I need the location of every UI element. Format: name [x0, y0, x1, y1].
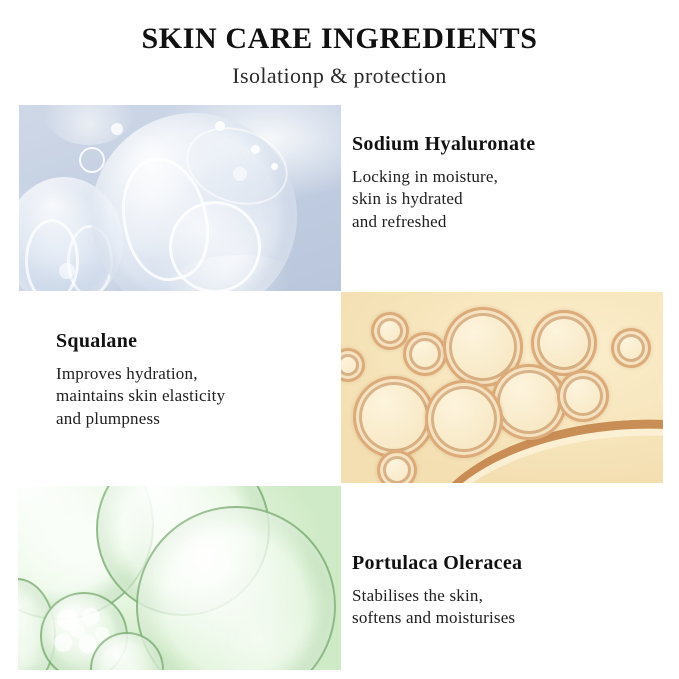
- page-subtitle: Isolationp & protection: [0, 56, 679, 89]
- ingredient-heading-sodium-hyaluronate: Sodium Hyaluronate: [352, 133, 672, 156]
- water-droplet-2: [111, 123, 123, 135]
- ingredient-body-squalane: Improves hydration, maintains skin elast…: [56, 353, 356, 430]
- ingredient-heading-squalane: Squalane: [56, 330, 356, 353]
- oil-bubble-2: [403, 332, 447, 376]
- water-droplet-3: [215, 121, 225, 131]
- oil-bubble-5: [611, 328, 651, 368]
- ingredient-text-squalane: Squalane Improves hydration, maintains s…: [56, 330, 356, 430]
- oil-bubble-11: [377, 450, 417, 483]
- ingredient-image-squalane: [341, 292, 663, 483]
- ingredient-body-portulaca-oleracea: Stabilises the skin, softens and moistur…: [352, 575, 672, 630]
- page-title: SKIN CARE INGREDIENTS: [0, 0, 679, 56]
- ingredient-image-sodium-hyaluronate: [19, 105, 341, 291]
- oil-bubble-7: [557, 370, 609, 422]
- ingredient-text-portulaca-oleracea: Portulaca Oleracea Stabilises the skin, …: [352, 552, 672, 630]
- page-header: SKIN CARE INGREDIENTS Isolationp & prote…: [0, 0, 679, 89]
- water-droplet-7: [59, 263, 75, 279]
- water-droplet-6: [233, 167, 247, 181]
- oil-bubble-6: [491, 364, 567, 440]
- ingredient-text-sodium-hyaluronate: Sodium Hyaluronate Locking in moisture, …: [352, 133, 672, 233]
- oil-bubble-1: [371, 312, 409, 350]
- oil-bubble-9: [425, 380, 503, 458]
- ingredient-heading-portulaca-oleracea: Portulaca Oleracea: [352, 552, 672, 575]
- oil-bubble-8: [353, 376, 435, 458]
- water-droplet-4: [251, 145, 260, 154]
- water-droplet-5: [271, 163, 278, 170]
- water-droplet-1: [79, 147, 105, 173]
- ingredient-image-portulaca-oleracea: [18, 486, 341, 670]
- ingredient-body-sodium-hyaluronate: Locking in moisture, skin is hydrated an…: [352, 156, 672, 233]
